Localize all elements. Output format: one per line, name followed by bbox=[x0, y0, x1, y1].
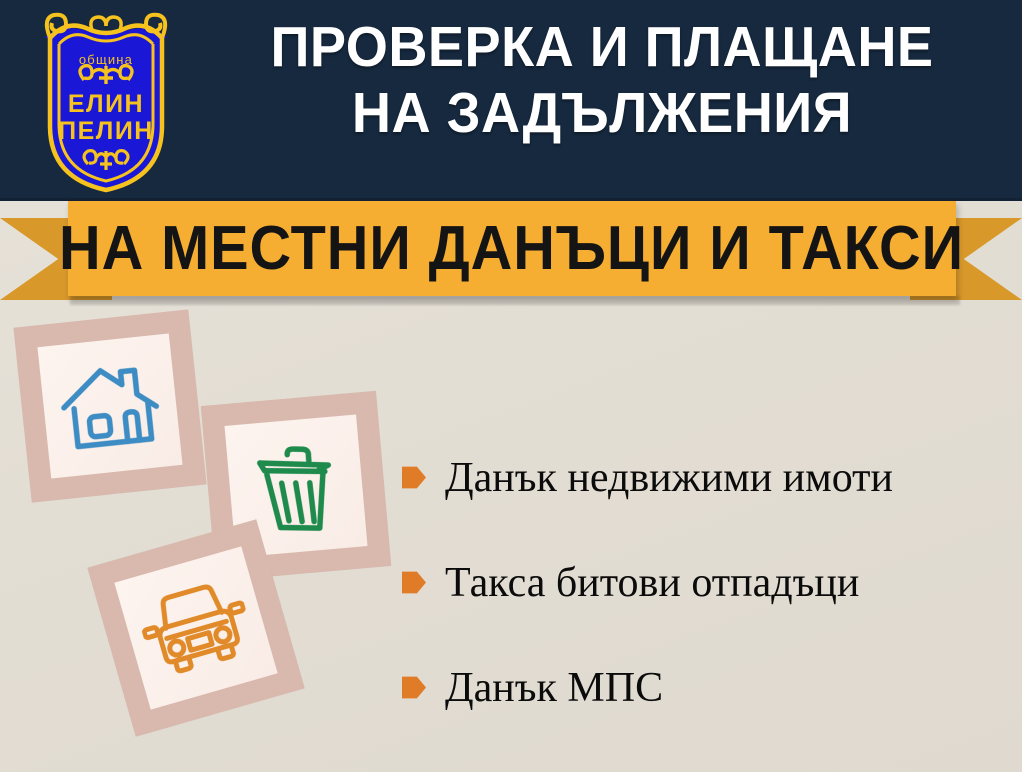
tax-types-list: Данък недвижими имоти Такса битови отпад… bbox=[402, 425, 1012, 740]
trash-bin-icon bbox=[246, 434, 346, 538]
list-item-label: Данък недвижими имоти bbox=[445, 455, 893, 501]
house-icon bbox=[53, 354, 166, 458]
house-icon-wrap bbox=[37, 333, 182, 478]
ribbon-banner: НА МЕСТНИ ДАНЪЦИ И ТАКСИ bbox=[68, 201, 956, 296]
arrow-bullet-icon bbox=[402, 465, 426, 491]
stamp-property-tax bbox=[13, 309, 206, 502]
arrow-bullet-icon bbox=[402, 675, 426, 701]
ribbon-label: НА МЕСТНИ ДАНЪЦИ И ТАКСИ bbox=[60, 217, 965, 281]
municipality-logo: община ЕЛИН ПЕЛИН bbox=[26, 8, 186, 193]
poster-canvas: община ЕЛИН ПЕЛИН ПРОВЕРКА И ПЛАЩАНЕ НА … bbox=[0, 0, 1022, 772]
page-title-line-2: НА ЗАДЪЛЖЕНИЯ bbox=[216, 80, 987, 146]
list-item-label: Данък МПС bbox=[445, 665, 663, 711]
subtitle-ribbon: НА МЕСТНИ ДАНЪЦИ И ТАКСИ bbox=[0, 196, 1022, 308]
logo-text-pelin: ПЕЛИН bbox=[58, 117, 154, 145]
arrow-bullet-icon bbox=[402, 570, 426, 596]
ribbon-shadow bbox=[70, 296, 960, 305]
list-item[interactable]: Такса битови отпадъци bbox=[402, 530, 1012, 635]
car-icon bbox=[133, 573, 258, 683]
page-title-line-1: ПРОВЕРКА И ПЛАЩАНЕ bbox=[216, 14, 987, 80]
list-item[interactable]: Данък МПС bbox=[402, 635, 1012, 740]
page-title: ПРОВЕРКА И ПЛАЩАНЕ НА ЗАДЪЛЖЕНИЯ bbox=[216, 14, 987, 146]
coat-of-arms-icon: община ЕЛИН ПЕЛИН bbox=[26, 8, 186, 193]
list-item[interactable]: Данък недвижими имоти bbox=[402, 425, 1012, 530]
logo-text-elin: ЕЛИН bbox=[68, 90, 144, 118]
list-item-label: Такса битови отпадъци bbox=[445, 560, 859, 606]
